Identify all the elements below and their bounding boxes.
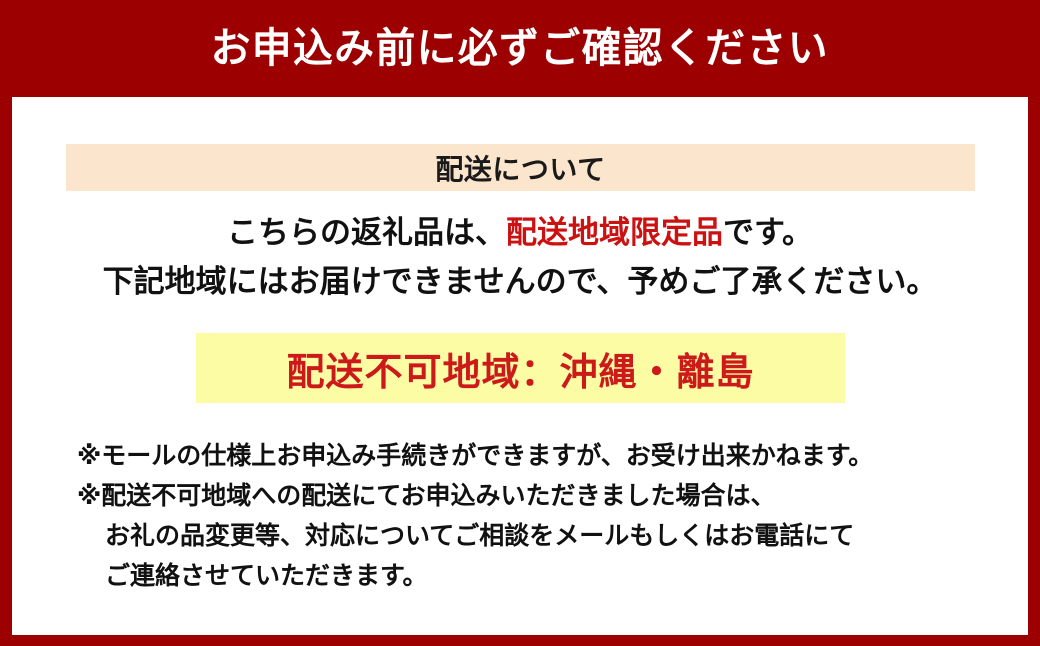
notice-header-band: お申込み前に必ずご確認ください (0, 0, 1040, 97)
statement-line-1-highlight: 配送地域限定品 (506, 215, 723, 251)
statement-line-2: 下記地域にはお届けできませんので、予めご了承ください。 (12, 267, 1028, 298)
restricted-region-text: 配送不可地域：沖縄・離島 (286, 341, 754, 396)
statement-line-1: こちらの返礼品は、配送地域限定品です。 (12, 218, 1028, 249)
footnote-line: ご連絡させていただきます。 (77, 556, 1007, 596)
notice-footnotes: ※モールの仕様上お申込み手続きができますが、お受け出来かねます。 ※配送不可地域… (77, 436, 1007, 596)
statement-line-1-suffix: です。 (723, 215, 813, 251)
footnote-line: ※モールの仕様上お申込み手続きができますが、お受け出来かねます。 (77, 436, 1007, 476)
shipping-notice-card: お申込み前に必ずご確認ください 配送について こちらの返礼品は、配送地域限定品で… (0, 0, 1040, 646)
footnote-line: ※配送不可地域への配送にてお申込みいただきました場合は、 (77, 476, 1007, 516)
delivery-section-heading-text: 配送について (435, 148, 605, 188)
footnote-line: お礼の品変更等、対応についてご相談をメールもしくはお電話にて (77, 516, 1007, 556)
notice-inner-panel: 配送について こちらの返礼品は、配送地域限定品です。 下記地域にはお届けできませ… (12, 97, 1028, 635)
statement-line-1-prefix: こちらの返礼品は、 (227, 215, 506, 251)
delivery-section-heading-box: 配送について (66, 144, 975, 191)
restricted-region-box: 配送不可地域：沖縄・離島 (196, 333, 845, 403)
notice-header-title: お申込み前に必ずご確認ください (211, 28, 829, 69)
